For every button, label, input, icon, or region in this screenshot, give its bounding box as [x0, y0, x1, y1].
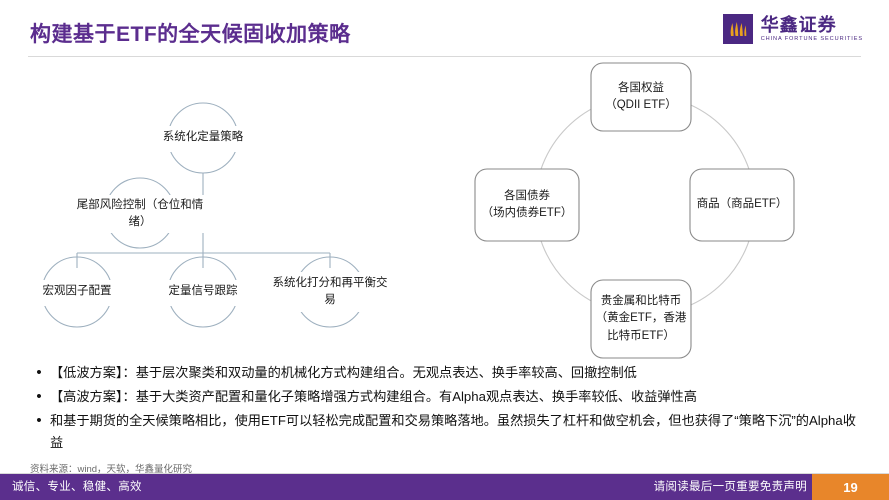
node-text-bonds: 各国债券 （场内债券ETF） — [482, 188, 573, 223]
company-logo: 华鑫证券 CHINA FORTUNE SECURITIES — [723, 14, 863, 44]
footer-bar: 诚信、专业、稳健、高效 请阅读最后一页重要免责声明 19 — [0, 474, 889, 500]
all-weather-allocation-diagram: 各国权益 （QDII ETF） 商品（商品ETF） 贵金属和比特币（黄金ETF，… — [450, 52, 870, 362]
left-diagram-svg — [16, 80, 416, 350]
brand-text-block: 华鑫证券 CHINA FORTUNE SECURITIES — [761, 16, 863, 43]
node-text-equity: 各国权益 （QDII ETF） — [605, 80, 677, 115]
footer-slogan: 诚信、专业、稳健、高效 — [12, 474, 142, 500]
slide-canvas: 构建基于ETF的全天候固收加策略 华鑫证券 CHINA FORTUNE SECU… — [0, 0, 889, 500]
flame-logo-icon — [723, 14, 753, 44]
systematic-strategy-diagram: 系统化定量策略 尾部风险控制（仓位和情绪） 宏观因子配置 定量信号跟踪 系统化打… — [16, 80, 416, 350]
bullet-item: • 和基于期货的全天候策略相比，使用ETF可以轻松完成配置和交易策略落地。虽然损… — [28, 410, 868, 453]
bullet-item: • 【低波方案】：基于层次聚类和双动量的机械化方式构建组合。无观点表达、换手率较… — [28, 362, 868, 384]
bullet-list: • 【低波方案】：基于层次聚类和双动量的机械化方式构建组合。无观点表达、换手率较… — [28, 362, 868, 455]
bullet-text: 【高波方案】：基于大类资产配置和量化子策略增强方式构建组合。有Alpha观点表达… — [50, 386, 868, 407]
brand-name-en: CHINA FORTUNE SECURITIES — [761, 36, 863, 42]
node-label-bonds: 各国债券 （场内债券ETF） — [475, 169, 579, 241]
page-title: 构建基于ETF的全天候固收加策略 — [30, 18, 351, 48]
node-text-commodity: 商品（商品ETF） — [697, 196, 788, 213]
bullet-marker-icon: • — [28, 362, 50, 384]
page-number: 19 — [812, 474, 889, 500]
node-label-equity: 各国权益 （QDII ETF） — [591, 63, 691, 131]
bullet-marker-icon: • — [28, 386, 50, 408]
node-text-metals: 贵金属和比特币（黄金ETF，香港比特币ETF） — [591, 293, 691, 345]
bullet-text: 【低波方案】：基于层次聚类和双动量的机械化方式构建组合。无观点表达、换手率较高、… — [50, 362, 868, 383]
node-label-commodity: 商品（商品ETF） — [690, 169, 794, 241]
bullet-marker-icon: • — [28, 410, 50, 432]
bullet-item: • 【高波方案】：基于大类资产配置和量化子策略增强方式构建组合。有Alpha观点… — [28, 386, 868, 408]
bullet-text: 和基于期货的全天候策略相比，使用ETF可以轻松完成配置和交易策略落地。虽然损失了… — [50, 410, 868, 453]
brand-name-cn: 华鑫证券 — [761, 16, 863, 35]
footer-disclaimer: 请阅读最后一页重要免责声明 — [654, 474, 807, 500]
node-label-metals: 贵金属和比特币（黄金ETF，香港比特币ETF） — [591, 280, 691, 358]
